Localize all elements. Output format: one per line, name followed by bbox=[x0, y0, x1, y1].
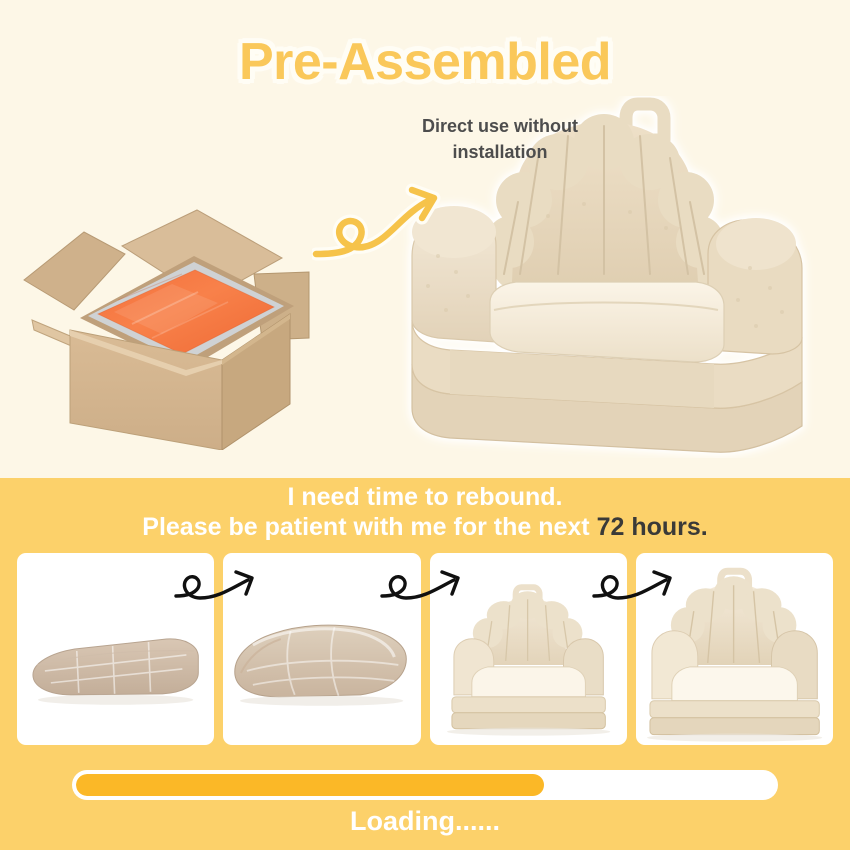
step-panel-4 bbox=[636, 553, 833, 745]
rebound-step-panels bbox=[17, 553, 833, 745]
loading-label: Loading...... bbox=[0, 806, 850, 837]
step-panel-3 bbox=[430, 553, 627, 745]
banner-hours-highlight: 72 hours. bbox=[597, 513, 708, 541]
progress-fill bbox=[76, 774, 544, 796]
infographic-page: Pre-Assembled bbox=[0, 0, 850, 850]
banner-line2-prefix: Please be patient with me for the next bbox=[142, 513, 596, 541]
subtitle-line-1: Direct use without bbox=[422, 116, 578, 136]
top-section: Pre-Assembled bbox=[0, 0, 850, 478]
step-panel-1 bbox=[17, 553, 214, 745]
subtitle-text: Direct use without installation bbox=[398, 114, 602, 165]
step-3-illustration bbox=[430, 553, 627, 745]
cardboard-box-illustration bbox=[22, 188, 354, 450]
subtitle-line-2: installation bbox=[452, 142, 547, 162]
step-4-illustration bbox=[636, 553, 833, 745]
curly-arrow-right-yellow-icon bbox=[312, 158, 457, 263]
banner-headline-line2: Please be patient with me for the next 7… bbox=[0, 513, 850, 542]
progress-track bbox=[76, 774, 774, 796]
loading-progress-bar[interactable] bbox=[72, 770, 778, 800]
cardboard-box-image bbox=[22, 188, 354, 450]
banner-headline-line1: I need time to rebound. bbox=[0, 483, 850, 512]
step-panel-2 bbox=[223, 553, 420, 745]
page-title: Pre-Assembled bbox=[0, 32, 850, 92]
step-2-illustration bbox=[223, 553, 420, 745]
step-1-illustration bbox=[17, 553, 214, 745]
